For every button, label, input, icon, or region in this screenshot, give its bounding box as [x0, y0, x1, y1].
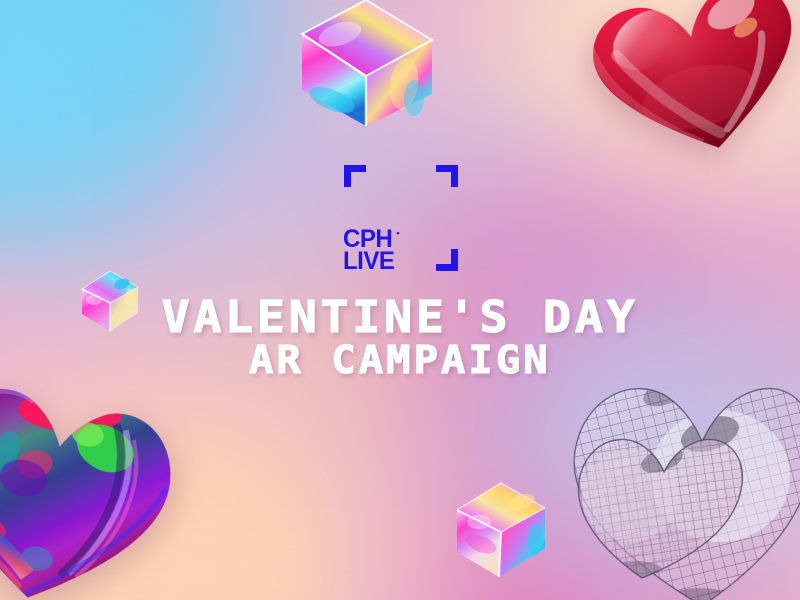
holographic-cube-small-icon — [78, 268, 142, 334]
campaign-poster: CPH• LIVE VALENTINE'S DAY AR CAMPAIGN — [0, 0, 800, 600]
holographic-cube-medium-icon — [452, 480, 550, 580]
wireframe-heart-icon — [570, 356, 800, 600]
holographic-cube-large-icon — [292, 0, 440, 128]
